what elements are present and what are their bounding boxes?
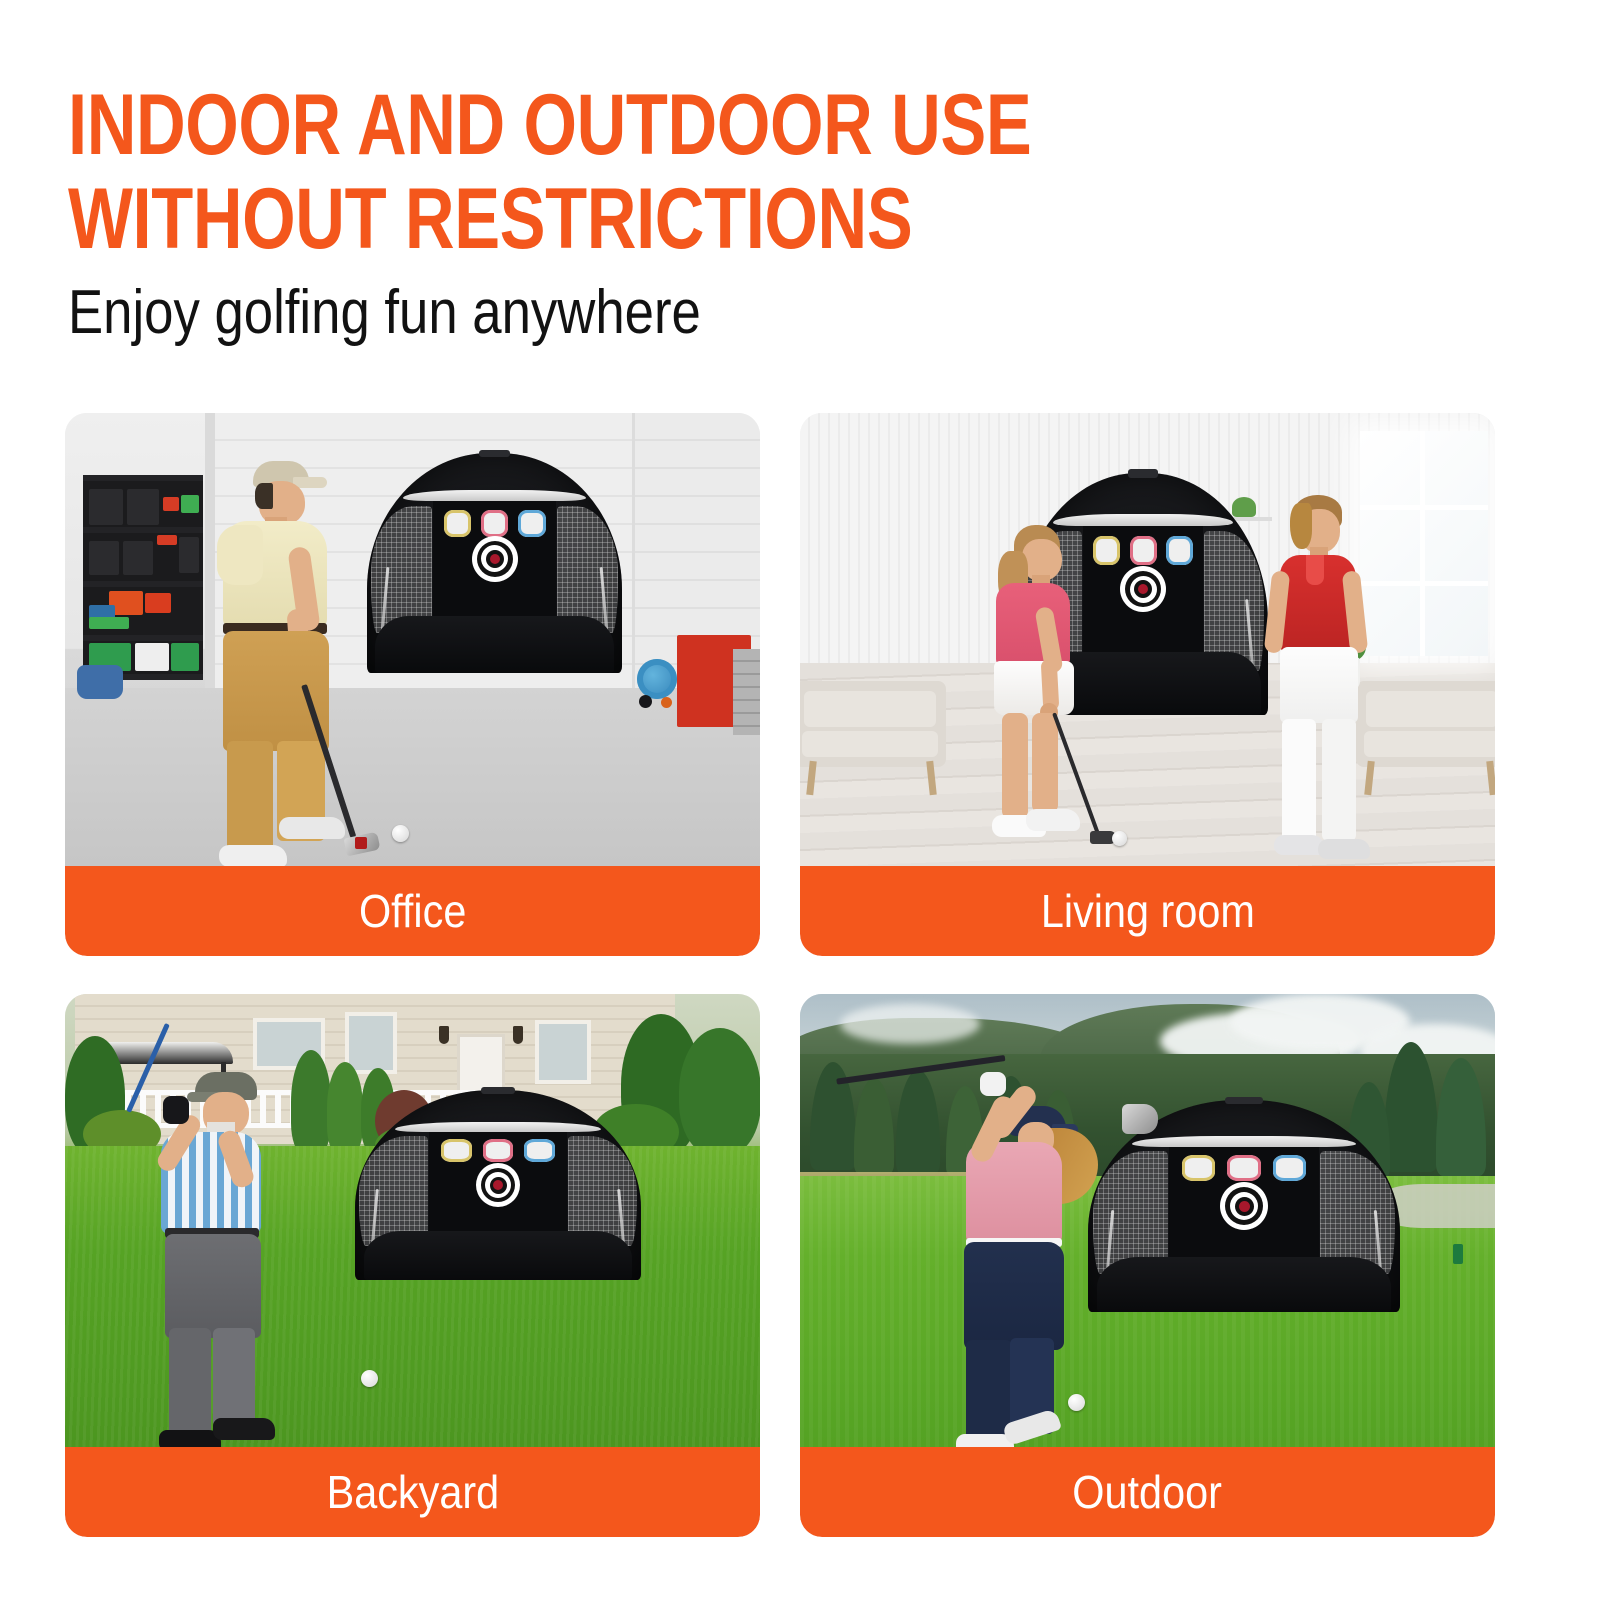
observer-figure-woman xyxy=(1266,495,1396,865)
golf-net-backyard xyxy=(355,1090,641,1280)
scenario-card-grid: Office xyxy=(65,413,1536,1537)
golf-ball xyxy=(1068,1394,1085,1411)
golf-ball xyxy=(1112,831,1127,846)
card-caption-office: Office xyxy=(65,866,760,956)
pocket-red xyxy=(1130,536,1157,565)
pocket-yellow xyxy=(441,1139,472,1162)
card-caption-living-room: Living room xyxy=(800,866,1495,956)
bullseye-target xyxy=(472,536,518,582)
caption-label: Outdoor xyxy=(1073,1465,1223,1519)
hose-reel xyxy=(637,659,677,699)
armchair-left xyxy=(800,681,946,767)
scene-photo-living-room xyxy=(800,413,1495,866)
header: INDOOR AND OUTDOOR USE WITHOUT RESTRICTI… xyxy=(68,78,1468,348)
pocket-yellow xyxy=(1182,1155,1216,1180)
scene-photo-backyard xyxy=(65,994,760,1447)
scene-photo-office xyxy=(65,413,760,866)
card-caption-backyard: Backyard xyxy=(65,1447,760,1537)
promo-page: INDOOR AND OUTDOOR USE WITHOUT RESTRICTI… xyxy=(0,0,1600,1600)
card-caption-outdoor: Outdoor xyxy=(800,1447,1495,1537)
golfer-figure-outdoor xyxy=(926,1052,1136,1447)
scenario-card-living-room[interactable]: Living room xyxy=(800,413,1495,956)
garage-shelving xyxy=(83,475,203,680)
bullseye-target xyxy=(1120,566,1166,612)
scenario-card-outdoor[interactable]: Outdoor xyxy=(800,994,1495,1537)
caption-label: Office xyxy=(359,884,466,938)
golf-ball xyxy=(392,825,409,842)
pocket-blue xyxy=(1166,536,1193,565)
pocket-blue xyxy=(524,1139,555,1162)
pocket-blue xyxy=(518,510,546,536)
pocket-red xyxy=(483,1139,514,1162)
pocket-red xyxy=(1227,1155,1261,1180)
caption-label: Living room xyxy=(1040,884,1254,938)
pocket-blue xyxy=(1273,1155,1307,1180)
golf-net-office xyxy=(367,453,622,673)
bullseye-target xyxy=(1220,1182,1268,1230)
pocket-yellow xyxy=(444,510,472,536)
golf-ball xyxy=(361,1370,378,1387)
bullseye-target xyxy=(476,1163,520,1207)
headline-line-1: INDOOR AND OUTDOOR USE xyxy=(68,78,1188,172)
net-pockets xyxy=(444,510,546,536)
golfer-figure-office xyxy=(193,459,373,859)
pocket-red xyxy=(481,510,509,536)
golfer-figure-girl xyxy=(978,525,1118,855)
scenario-card-backyard[interactable]: Backyard xyxy=(65,994,760,1537)
scene-photo-outdoor xyxy=(800,994,1495,1447)
subheadline: Enjoy golfing fun anywhere xyxy=(68,278,1258,348)
scenario-card-office[interactable]: Office xyxy=(65,413,760,956)
headline-line-2: WITHOUT RESTRICTIONS xyxy=(68,172,1188,266)
caption-label: Backyard xyxy=(326,1465,499,1519)
golfer-figure-backyard xyxy=(151,1070,321,1447)
